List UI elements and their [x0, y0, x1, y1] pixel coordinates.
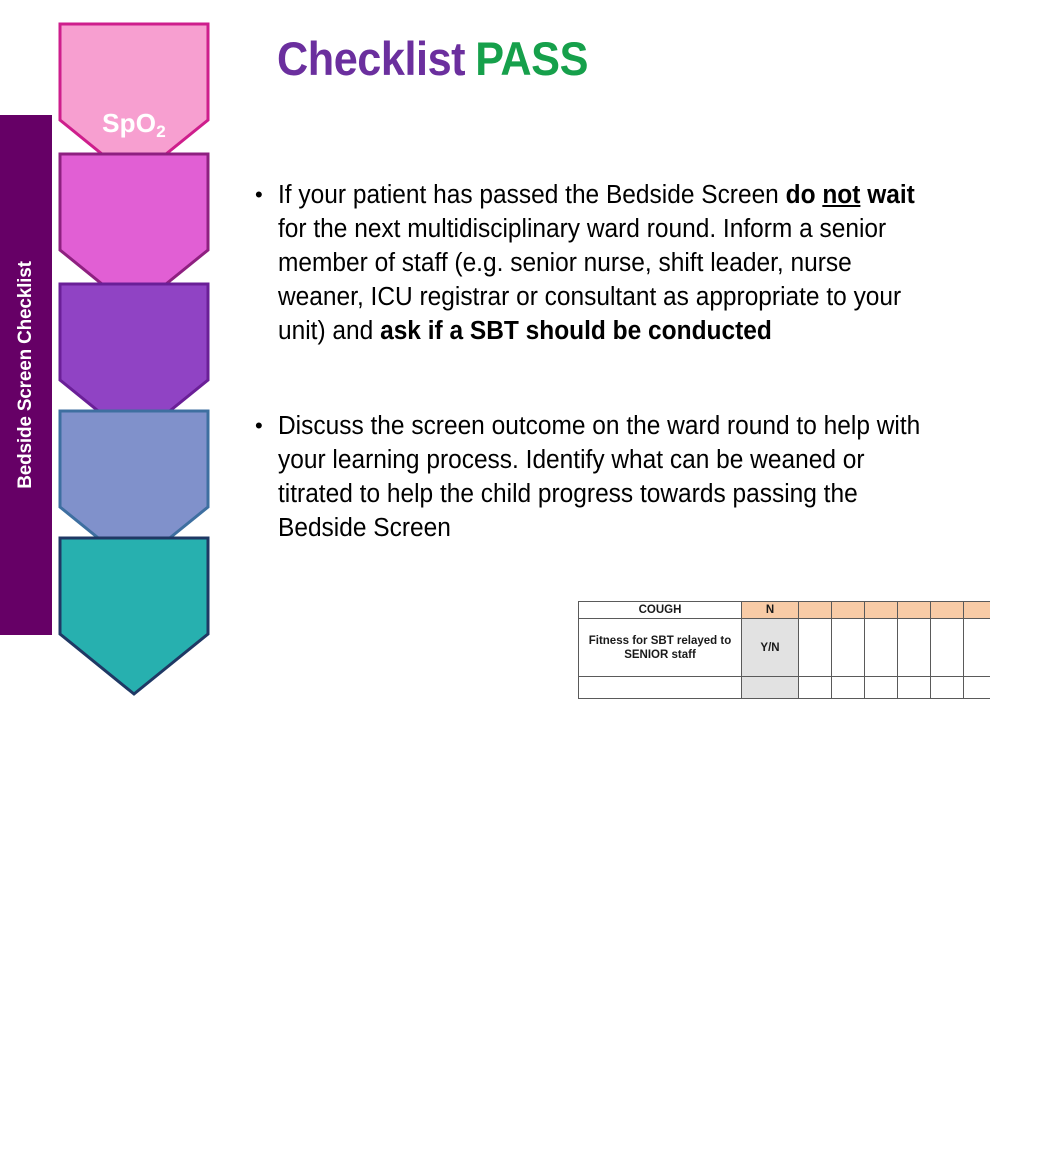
table-cell-blank[interactable] [964, 602, 991, 619]
table-cell-blank[interactable] [799, 602, 832, 619]
bullet-segment-bold: do [786, 181, 823, 209]
table-cell-blank[interactable] [865, 619, 898, 677]
bullet-segment: If your patient has passed the Bedside S… [278, 181, 786, 209]
bullet-segment-bold: ask if a SBT should be conducted [380, 317, 772, 345]
table-cell-blank[interactable] [799, 677, 832, 699]
table-cell-blank[interactable] [931, 619, 964, 677]
checklist-table-fragment: COUGH N Fitness for SBT relayed to SENIO… [578, 601, 990, 720]
table-cell-blank[interactable] [832, 602, 865, 619]
bullet-item: • If your patient has passed the Bedside… [255, 178, 955, 348]
table-cell-value[interactable] [742, 677, 799, 699]
chevron-peep-label-main: PEEP [99, 882, 169, 912]
chevron-peep-label: PEEP [58, 882, 210, 913]
table-cell-blank[interactable] [799, 619, 832, 677]
table-cell-blank[interactable] [931, 602, 964, 619]
bullet-item: • Discuss the screen outcome on the ward… [255, 409, 955, 545]
table-cell-blank[interactable] [865, 677, 898, 699]
table-cell-blank[interactable] [865, 602, 898, 619]
chevron-cough-label-main: COUGH [83, 1136, 185, 1166]
bullet-dot-icon: • [255, 178, 278, 212]
table-cell-label [579, 677, 742, 699]
page-title: ChecklistPASS [277, 31, 588, 86]
table-row: Fitness for SBT relayed to SENIOR staff … [579, 619, 991, 677]
bullet-text: If your patient has passed the Bedside S… [278, 178, 928, 348]
bullet-segment-bold-underline: not [822, 181, 860, 209]
chevron-cough[interactable]: COUGH [58, 536, 210, 696]
table-cell-blank[interactable] [931, 677, 964, 699]
page-title-main: Checklist [277, 32, 465, 85]
table-cell-value[interactable]: Y/N [742, 619, 799, 677]
side-banner: Bedside Screen Checklist [0, 115, 52, 635]
chevron-cough-shape [58, 536, 210, 696]
table-cell-label: COUGH [579, 602, 742, 619]
bullet-segment: Discuss the screen outcome on the ward r… [278, 412, 920, 542]
checklist-table: COUGH N Fitness for SBT relayed to SENIO… [578, 601, 990, 699]
table-cell-blank[interactable] [964, 619, 991, 677]
bullet-dot-icon: • [255, 409, 278, 443]
bullet-text: Discuss the screen outcome on the ward r… [278, 409, 928, 545]
table-cell-label: Fitness for SBT relayed to SENIOR staff [579, 619, 742, 677]
chevron-cough-label: COUGH [58, 1136, 210, 1167]
table-cell-blank[interactable] [898, 677, 931, 699]
side-banner-label: Bedside Screen Checklist [15, 261, 37, 489]
table-cell-blank[interactable] [964, 677, 991, 699]
bullet-segment-bold: wait [860, 181, 914, 209]
body-content: • If your patient has passed the Bedside… [255, 178, 955, 545]
table-row [579, 677, 991, 699]
table-cell-blank[interactable] [898, 619, 931, 677]
table-row: COUGH N [579, 602, 991, 619]
table-cell-blank[interactable] [898, 602, 931, 619]
chevron-cough-polygon [60, 538, 208, 694]
table-cell-blank[interactable] [832, 619, 865, 677]
chevron-stack: SpO2 FiO2 PIP PEEP COUGH [58, 22, 210, 712]
page-title-status: PASS [475, 32, 588, 85]
table-cell-value[interactable]: N [742, 602, 799, 619]
table-cell-blank[interactable] [832, 677, 865, 699]
